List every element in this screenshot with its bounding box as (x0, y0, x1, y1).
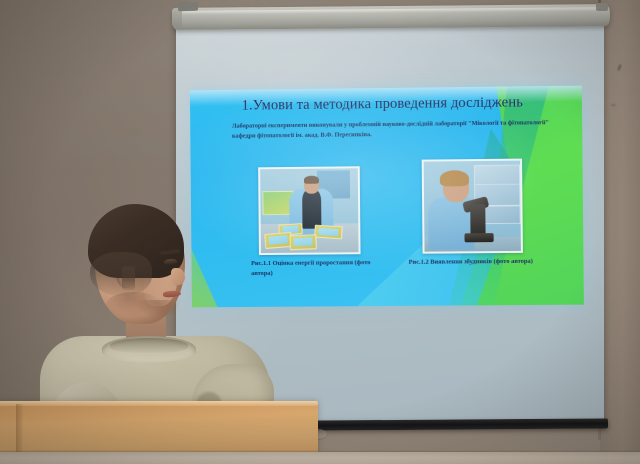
case-highlight (178, 7, 598, 15)
researcher-hair (440, 170, 469, 187)
presentation-room-photo: 1.Умови та методика проведення досліджен… (0, 0, 640, 464)
case-mounting-bracket (178, 2, 198, 12)
slide-figure-1-2-caption: Рис.1.2 Виявлення збудників (фото автора… (409, 256, 582, 267)
presenter-nose (171, 268, 185, 285)
figure-1-2-artwork (424, 161, 521, 252)
slide-title: 1.Умови та методика проведення досліджен… (242, 94, 572, 115)
chin-shadow (136, 300, 180, 318)
slide-figure-1-1-image (258, 166, 360, 255)
lectern-top-edge (0, 401, 318, 406)
researcher-hair (304, 175, 320, 184)
researcher-shirt (302, 190, 321, 229)
figure-1-1-artwork (260, 168, 358, 253)
hair-fade (90, 252, 152, 296)
germination-tray (290, 234, 318, 250)
slide-figure-1-1-caption: Рис.1.1 Оцінка енергії проростання (фото… (251, 258, 391, 279)
projector-screen-roller-case (172, 4, 610, 30)
wall-scuff-mark (611, 104, 616, 106)
floor (0, 452, 640, 464)
collar-neckline (110, 338, 188, 353)
microscope-body (470, 204, 486, 235)
slide-body-text: Лабораторні експерименти виконували у пр… (232, 118, 564, 142)
case-mounting-bracket (596, 3, 608, 11)
microscope-base (465, 233, 494, 242)
germination-tray (314, 225, 343, 240)
presenter-sideburn (122, 266, 135, 290)
slide-figure-1-2-image (422, 159, 523, 254)
lab-shelf (474, 164, 521, 185)
